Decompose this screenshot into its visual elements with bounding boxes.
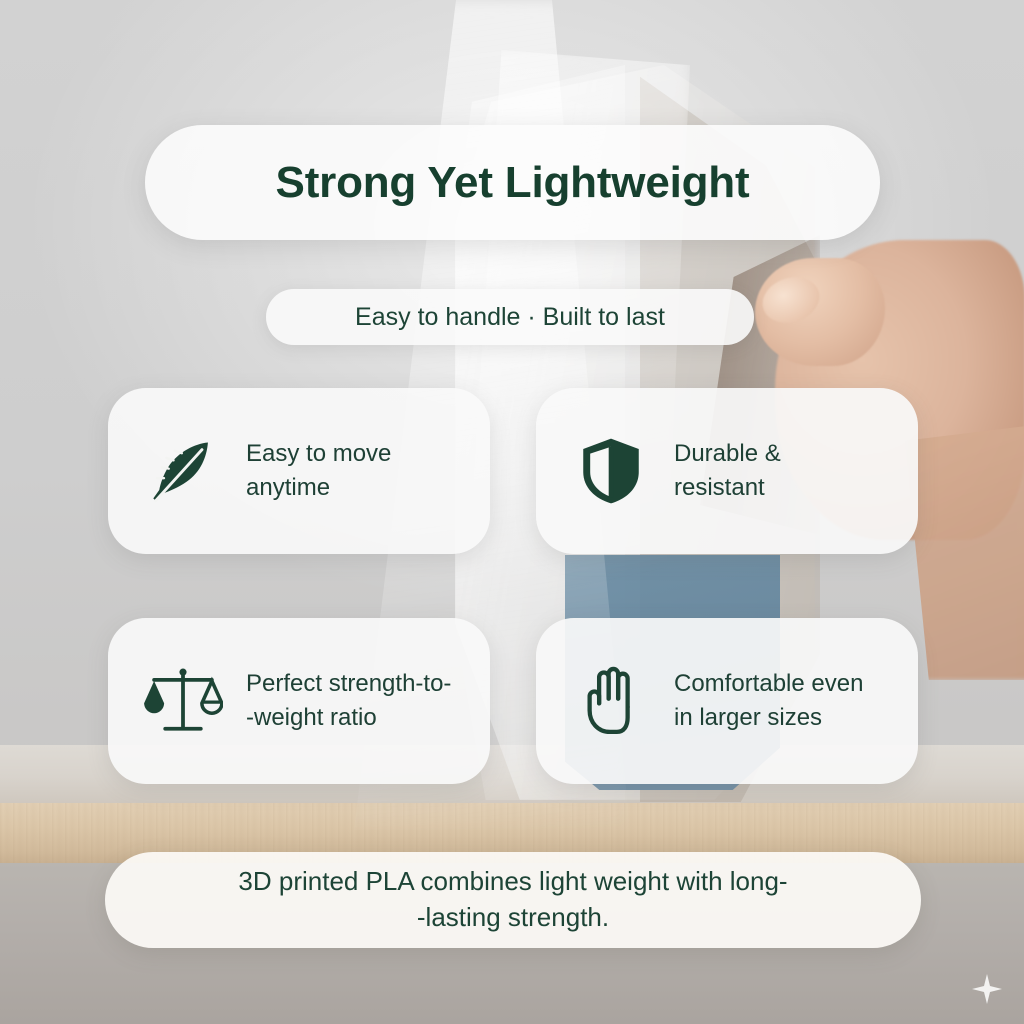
shield-icon <box>570 430 652 512</box>
feature-card-durable[interactable]: Durable & resistant <box>536 388 918 554</box>
hand-icon <box>570 660 652 742</box>
feather-icon <box>142 430 224 512</box>
subtitle-pill: Easy to handle · Built to last <box>266 289 754 345</box>
scales-icon <box>142 660 224 742</box>
page-title: Strong Yet Lightweight <box>276 158 750 208</box>
feature-card-strength-to-weight[interactable]: Perfect strength-to- -weight ratio <box>108 618 490 784</box>
overlay-ui: Strong Yet Lightweight Easy to handle · … <box>0 0 1024 1024</box>
caption-pill: 3D printed PLA combines light weight wit… <box>105 852 921 948</box>
caption-text: 3D printed PLA combines light weight wit… <box>238 864 787 936</box>
feature-label: Perfect strength-to- -weight ratio <box>246 667 451 735</box>
feature-label: Easy to move anytime <box>246 437 391 505</box>
page-subtitle: Easy to handle · Built to last <box>355 303 665 332</box>
title-pill: Strong Yet Lightweight <box>145 125 880 240</box>
feature-card-comfortable[interactable]: Comfortable even in larger sizes <box>536 618 918 784</box>
poster-canvas: Strong Yet Lightweight Easy to handle · … <box>0 0 1024 1024</box>
feature-label: Durable & resistant <box>674 437 781 505</box>
feature-label: Comfortable even in larger sizes <box>674 667 863 735</box>
feature-card-grid: Easy to move anytime Durable & resistant <box>108 388 918 783</box>
feature-card-easy-to-move[interactable]: Easy to move anytime <box>108 388 490 554</box>
